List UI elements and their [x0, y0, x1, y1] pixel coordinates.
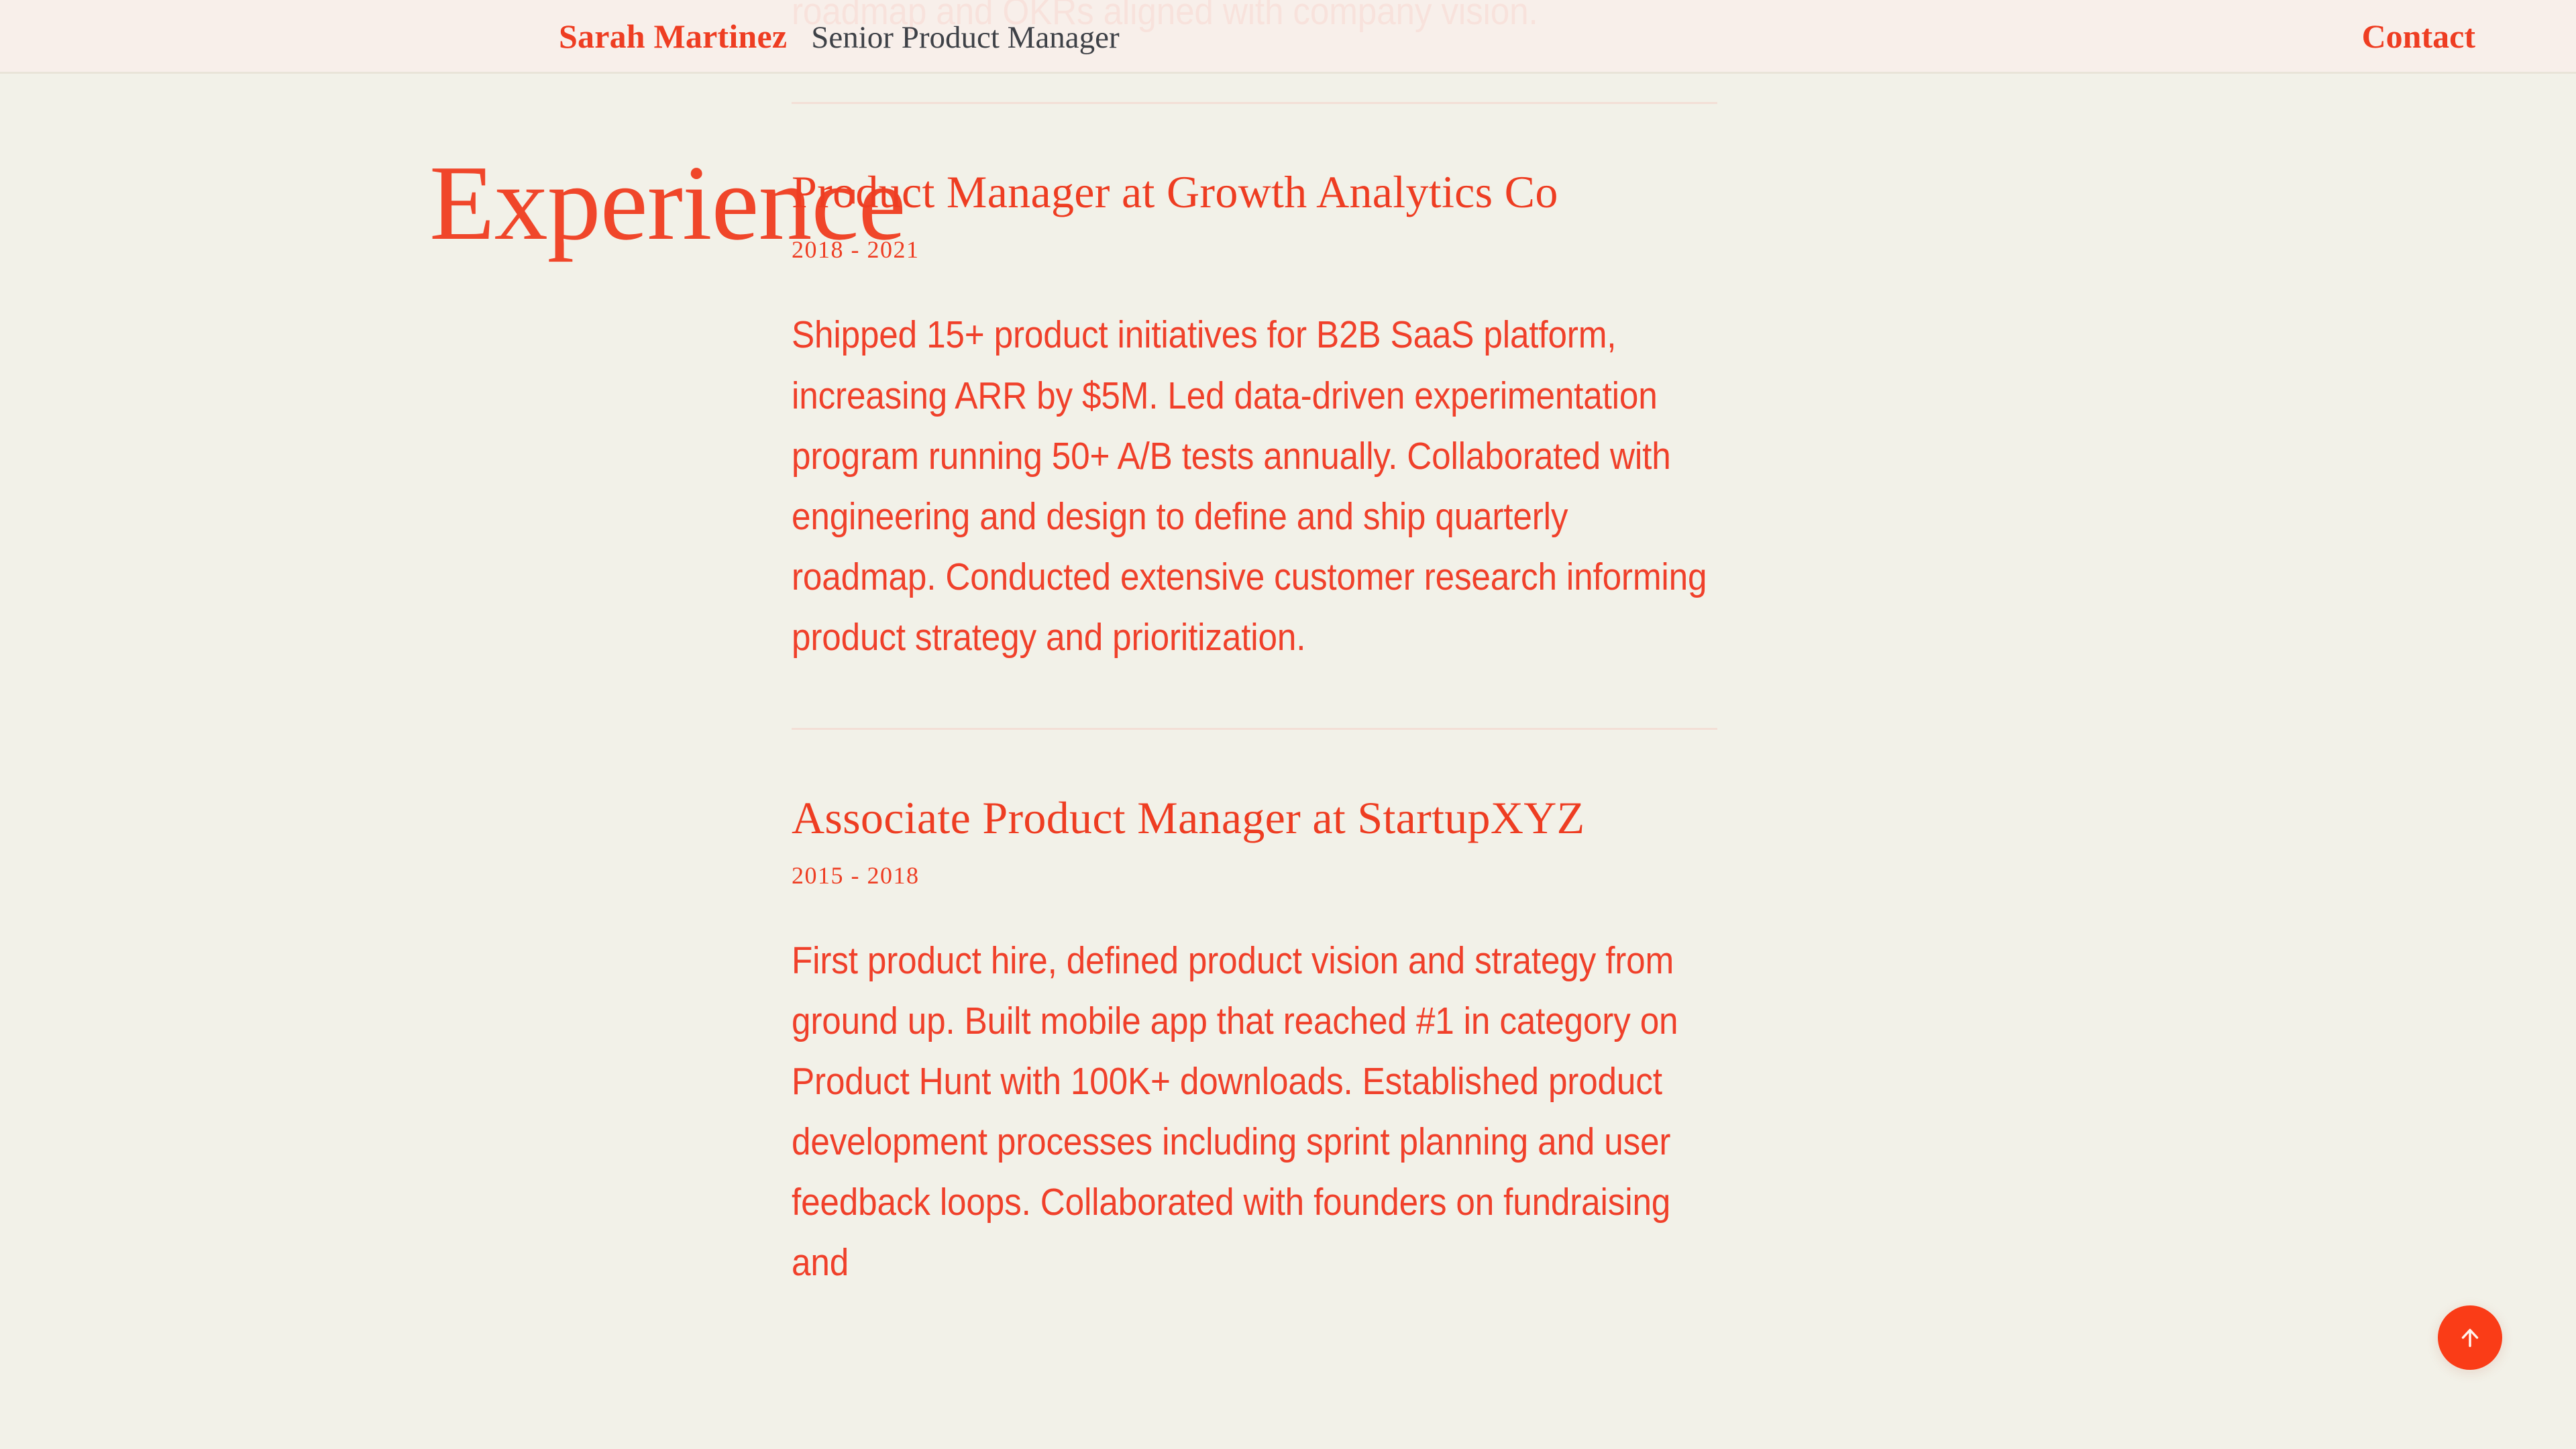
experience-entry: Product Manager at Growth Analytics Co 2… [792, 166, 1717, 667]
scroll-to-top-button[interactable] [2438, 1305, 2502, 1370]
experience-entries-column: engineers, designers, and analysts. Defi… [792, 0, 1717, 1293]
entry-job-title: Product Manager at Growth Analytics Co [792, 166, 1717, 218]
entry-divider [792, 728, 1717, 730]
entry-divider [792, 102, 1717, 104]
content-grid: Experience engineers, designers, and ana… [0, 0, 2576, 1293]
nav-link-contact[interactable]: Contact [2362, 17, 2475, 56]
entry-dates: 2018 - 2021 [792, 235, 1717, 264]
entry-description: First product hire, defined product visi… [792, 930, 1717, 1293]
experience-entry: Associate Product Manager at StartupXYZ … [792, 792, 1717, 1293]
site-header: Sarah Martinez Senior Product Manager Co… [0, 0, 2576, 74]
arrow-up-icon [2456, 1324, 2484, 1352]
brand-group[interactable]: Sarah Martinez Senior Product Manager [559, 17, 1120, 56]
brand-name[interactable]: Sarah Martinez [559, 17, 787, 56]
brand-role: Senior Product Manager [811, 19, 1119, 56]
entry-job-title: Associate Product Manager at StartupXYZ [792, 792, 1717, 844]
page-body: Experience engineers, designers, and ana… [0, 0, 2576, 1449]
entry-description: Shipped 15+ product initiatives for B2B … [792, 305, 1717, 667]
entry-dates: 2015 - 2018 [792, 861, 1717, 890]
